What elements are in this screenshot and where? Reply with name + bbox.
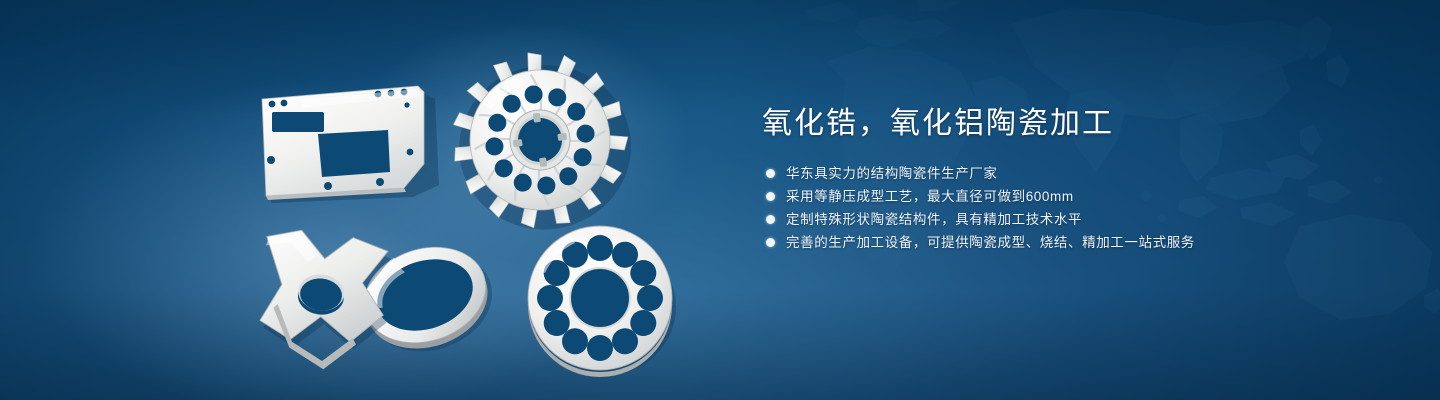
list-item-label: 完善的生产加工设备，可提供陶瓷成型、烧结、精加工一站式服务 xyxy=(786,231,1195,254)
ceramic-perforated-disc-shape xyxy=(528,226,676,377)
hero-banner: 氧化锆，氧化铝陶瓷加工 华东具实力的结构陶瓷件生产厂家 采用等静压成型工艺，最大… xyxy=(0,0,1440,400)
bullet-dot-icon xyxy=(766,238,775,247)
bullet-dot-icon xyxy=(766,192,775,201)
ceramic-plate-shape xyxy=(262,86,439,203)
list-item-label: 定制特殊形状陶瓷结构件，具有精加工技术水平 xyxy=(786,208,1082,231)
list-item-label: 采用等静压成型工艺，最大直径可做到600mm xyxy=(786,185,1074,208)
feature-list: 华东具实力的结构陶瓷件生产厂家 采用等静压成型工艺，最大直径可做到600mm 定… xyxy=(762,162,1382,254)
bullet-dot-icon xyxy=(766,215,775,224)
list-item: 采用等静压成型工艺，最大直径可做到600mm xyxy=(766,185,1382,208)
list-item-label: 华东具实力的结构陶瓷件生产厂家 xyxy=(786,162,998,185)
bullet-dot-icon xyxy=(766,169,775,178)
list-item: 华东具实力的结构陶瓷件生产厂家 xyxy=(766,162,1382,185)
product-photo-group xyxy=(0,0,720,400)
page-title: 氧化锆，氧化铝陶瓷加工 xyxy=(762,104,1382,144)
banner-copy: 氧化锆，氧化铝陶瓷加工 华东具实力的结构陶瓷件生产厂家 采用等静压成型工艺，最大… xyxy=(762,104,1382,254)
list-item: 定制特殊形状陶瓷结构件，具有精加工技术水平 xyxy=(766,208,1382,231)
list-item: 完善的生产加工设备，可提供陶瓷成型、烧结、精加工一站式服务 xyxy=(766,231,1382,254)
